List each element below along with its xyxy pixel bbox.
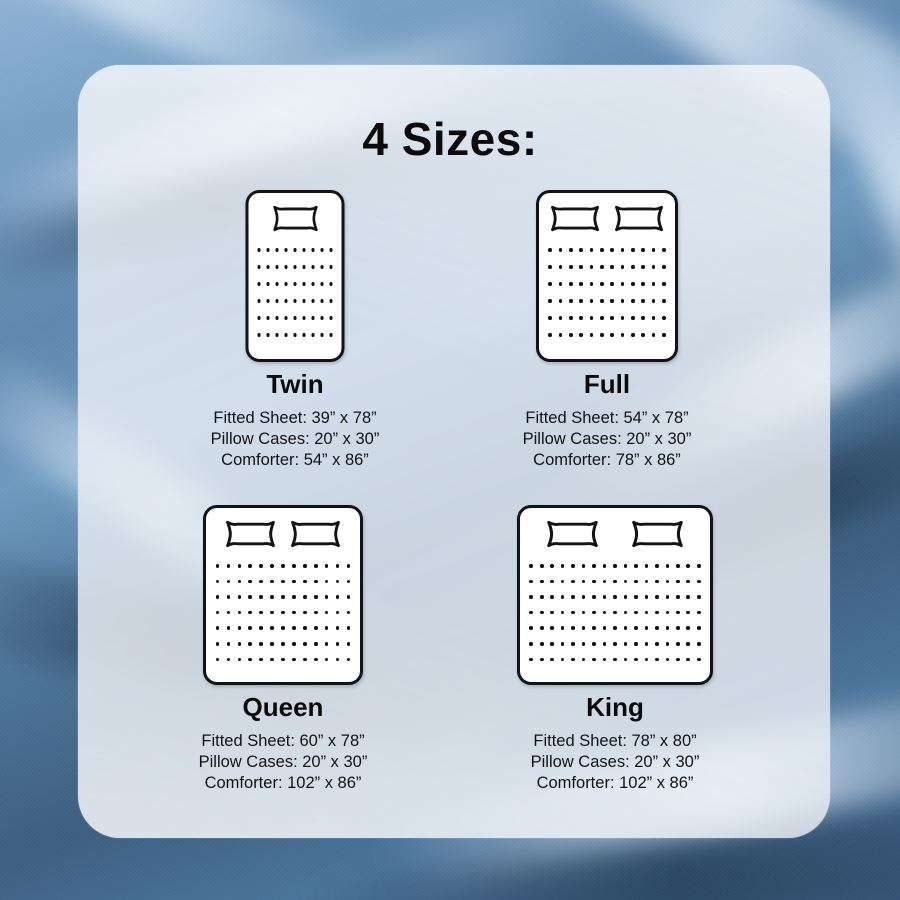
pillow-group: [249, 202, 342, 235]
mattress-dot: [579, 316, 583, 320]
mattress-dot: [561, 658, 565, 662]
mattress-dot: [624, 564, 628, 568]
dot-row: [520, 642, 710, 646]
spec-line: Comforter: 102” x 86”: [450, 773, 780, 794]
mattress-dot: [600, 282, 604, 286]
mattress-dot: [569, 316, 573, 320]
mattress-dot: [550, 580, 554, 584]
mattress-dot: [292, 658, 296, 662]
size-cell-full: FullFitted Sheet: 54” x 78”Pillow Cases:…: [442, 190, 772, 471]
mattress-dot: [325, 595, 329, 599]
mattress-dot: [561, 580, 565, 584]
mattress-dot: [686, 642, 690, 646]
mattress-dot: [603, 642, 607, 646]
mattress-dot: [257, 265, 261, 269]
dot-row: [520, 658, 710, 662]
mattress-dot: [582, 658, 586, 662]
mattress-dot: [582, 595, 586, 599]
mattress-dot: [248, 642, 252, 646]
size-cell-king: KingFitted Sheet: 78” x 80”Pillow Cases:…: [450, 505, 780, 794]
mattress-dot: [641, 299, 645, 303]
pillow-icon: [223, 517, 278, 551]
mattress-dot: [227, 595, 231, 599]
mattress-dot: [666, 595, 670, 599]
mattress-dot: [216, 595, 220, 599]
mattress-dot: [275, 333, 279, 337]
mattress-dot: [270, 611, 274, 615]
mattress-dot: [259, 658, 263, 662]
mattress-dot: [302, 248, 306, 252]
mattress-dot: [571, 626, 575, 630]
mattress-dot: [613, 580, 617, 584]
size-spec-list: Fitted Sheet: 78” x 80”Pillow Cases: 20”…: [450, 731, 780, 794]
mattress-dot: [592, 564, 596, 568]
dot-row: [206, 595, 360, 599]
mattress-dot: [613, 642, 617, 646]
mattress-dot: [238, 642, 242, 646]
mattress-dot: [540, 580, 544, 584]
mattress-dot: [697, 564, 701, 568]
mattress-dot: [634, 595, 638, 599]
mattress-dot: [529, 580, 533, 584]
dot-row: [520, 611, 710, 615]
mattress-dot: [311, 248, 315, 252]
mattress-dot: [216, 626, 220, 630]
mattress-dot: [571, 580, 575, 584]
size-spec-list: Fitted Sheet: 54” x 78”Pillow Cases: 20”…: [442, 408, 772, 471]
mattress-dot: [579, 282, 583, 286]
mattress-dot: [529, 642, 533, 646]
mattress-dot: [652, 333, 656, 337]
mattress-dot: [259, 580, 263, 584]
mattress-dot: [561, 642, 565, 646]
mattress-dot: [281, 642, 285, 646]
mattress-dot: [569, 333, 573, 337]
mattress-dot: [336, 642, 340, 646]
mattress-dot: [676, 642, 680, 646]
mattress-dot: [603, 658, 607, 662]
mattress-dot: [652, 282, 656, 286]
pillow-group: [520, 517, 710, 551]
mattress-dot: [655, 580, 659, 584]
mattress-dot: [281, 611, 285, 615]
mattress-dot: [548, 282, 552, 286]
mattress-dot: [266, 299, 270, 303]
mattress-dot: [293, 299, 297, 303]
mattress-dot: [281, 564, 285, 568]
mattress-dot: [641, 333, 645, 337]
spec-line: Fitted Sheet: 39” x 78”: [130, 408, 460, 429]
dot-row: [539, 299, 675, 303]
mattress-dot: [686, 626, 690, 630]
mattress-dot: [529, 595, 533, 599]
mattress-dot: [610, 265, 614, 269]
mattress-dot: [266, 316, 270, 320]
dot-row: [520, 564, 710, 568]
mattress-dot: [548, 248, 552, 252]
mattress-dot: [641, 265, 645, 269]
mattress-dot: [266, 265, 270, 269]
size-spec-list: Fitted Sheet: 60” x 78”Pillow Cases: 20”…: [118, 731, 448, 794]
pillow-icon: [548, 202, 602, 235]
mattress-dot: [686, 564, 690, 568]
mattress-dot: [550, 626, 554, 630]
mattress-dot: [292, 611, 296, 615]
mattress-dot: [540, 642, 544, 646]
mattress-dot: [662, 299, 666, 303]
pillow-group: [539, 202, 675, 235]
mattress-dot: [292, 642, 296, 646]
mattress-dot: [579, 299, 583, 303]
mattress-dot: [216, 611, 220, 615]
mattress-dot: [624, 595, 628, 599]
mattress-dot: [631, 316, 635, 320]
mattress-dot: [631, 333, 635, 337]
mattress-dot: [634, 642, 638, 646]
mattress-dot: [270, 626, 274, 630]
mattress-dot: [259, 595, 263, 599]
mattress-dot: [281, 658, 285, 662]
size-name-label: Full: [442, 369, 772, 400]
mattress-dot: [582, 611, 586, 615]
size-name-label: Queen: [118, 692, 448, 723]
dot-row: [520, 626, 710, 630]
mattress-dot: [303, 580, 307, 584]
mattress-dot: [550, 595, 554, 599]
mattress-dot: [571, 611, 575, 615]
mattress-dot: [227, 611, 231, 615]
size-cell-twin: TwinFitted Sheet: 39” x 78”Pillow Cases:…: [130, 190, 460, 471]
mattress-dot: [303, 611, 307, 615]
dot-row: [206, 642, 360, 646]
mattress-dot: [600, 316, 604, 320]
mattress-dot: [303, 595, 307, 599]
mattress-dot: [227, 626, 231, 630]
mattress-dot: [314, 595, 318, 599]
mattress-dot: [329, 299, 333, 303]
mattress-dot: [697, 611, 701, 615]
mattress-dot: [624, 611, 628, 615]
mattress-dot: [631, 282, 635, 286]
mattress-dot: [645, 642, 649, 646]
mattress-dot: [662, 333, 666, 337]
mattress-dot: [676, 580, 680, 584]
mattress-dot: [325, 580, 329, 584]
mattress-dot: [559, 299, 563, 303]
mattress-dot: [582, 642, 586, 646]
mattress-dot: [686, 595, 690, 599]
mattress-dot: [613, 611, 617, 615]
mattress-dot: [529, 611, 533, 615]
mattress-dot: [697, 580, 701, 584]
dot-row: [249, 282, 342, 286]
mattress-dot: [631, 299, 635, 303]
dot-row: [206, 626, 360, 630]
mattress-dot: [624, 658, 628, 662]
mattress-dot: [613, 595, 617, 599]
mattress-dot: [550, 564, 554, 568]
mattress-dot: [641, 316, 645, 320]
mattress-dot: [603, 611, 607, 615]
mattress-dot: [676, 564, 680, 568]
mattress-dot: [666, 611, 670, 615]
mattress-dot: [697, 658, 701, 662]
spec-line: Fitted Sheet: 60” x 78”: [118, 731, 448, 752]
mattress-dot: [303, 658, 307, 662]
mattress-dot: [314, 564, 318, 568]
mattress-dot: [257, 316, 261, 320]
mattress-dot: [302, 265, 306, 269]
mattress-dot: [266, 282, 270, 286]
mattress-dot: [652, 265, 656, 269]
mattress-dot: [259, 626, 263, 630]
mattress-dot: [314, 626, 318, 630]
mattress-dot: [329, 248, 333, 252]
dot-row: [249, 333, 342, 337]
mattress-dot: [676, 626, 680, 630]
mattress-dot: [590, 316, 594, 320]
mattress-dot: [292, 595, 296, 599]
mattress-dot: [613, 626, 617, 630]
mattress-dot: [540, 611, 544, 615]
pillow-icon: [629, 517, 686, 551]
mattress-dot: [540, 595, 544, 599]
mattress-dot: [676, 611, 680, 615]
mattress-dot: [666, 564, 670, 568]
mattress-dot: [621, 265, 625, 269]
mattress-dot: [655, 595, 659, 599]
mattress-dot: [600, 299, 604, 303]
mattress-dot: [248, 626, 252, 630]
mattress-dot: [613, 564, 617, 568]
mattress-dot: [347, 626, 351, 630]
dot-row: [539, 316, 675, 320]
spec-line: Fitted Sheet: 54” x 78”: [442, 408, 772, 429]
mattress-dot: [329, 316, 333, 320]
mattress-dot: [548, 265, 552, 269]
mattress-dot: [329, 265, 333, 269]
mattress-dot: [293, 333, 297, 337]
mattress-dot: [571, 642, 575, 646]
full-bed-icon: [442, 190, 772, 362]
mattress-dot: [641, 248, 645, 252]
mattress-dot: [266, 333, 270, 337]
mattress-dot: [621, 248, 625, 252]
mattress-dot: [275, 299, 279, 303]
mattress-dot: [569, 299, 573, 303]
mattress-dot: [238, 626, 242, 630]
mattress-dot: [216, 658, 220, 662]
mattress-dot: [590, 282, 594, 286]
mattress-dot: [227, 564, 231, 568]
mattress-dot: [624, 580, 628, 584]
mattress-dot: [666, 626, 670, 630]
mattress-dot: [248, 658, 252, 662]
mattress-dot: [311, 265, 315, 269]
dot-row: [539, 265, 675, 269]
mattress-dot: [257, 282, 261, 286]
mattress-dot: [592, 658, 596, 662]
mattress-dot: [655, 626, 659, 630]
mattress-dot: [662, 248, 666, 252]
spec-line: Pillow Cases: 20” x 30”: [450, 752, 780, 773]
mattress-dot: [645, 611, 649, 615]
mattress-dot: [641, 282, 645, 286]
spec-line: Pillow Cases: 20” x 30”: [442, 429, 772, 450]
mattress-dot: [624, 642, 628, 646]
mattress-dot: [529, 626, 533, 630]
mattress-dot: [284, 299, 288, 303]
mattress-dot: [314, 611, 318, 615]
mattress-dot: [579, 248, 583, 252]
mattress-dot: [590, 299, 594, 303]
mattress-dot: [662, 265, 666, 269]
mattress-dot: [259, 642, 263, 646]
mattress-dot: [347, 611, 351, 615]
page-title: 4 Sizes:: [0, 112, 900, 166]
mattress-dot: [320, 248, 324, 252]
mattress-dot: [325, 564, 329, 568]
mattress-dot: [600, 248, 604, 252]
mattress-dot: [603, 564, 607, 568]
mattress-dot: [676, 595, 680, 599]
mattress-dot: [325, 611, 329, 615]
mattress-dot: [559, 282, 563, 286]
size-name-label: King: [450, 692, 780, 723]
mattress-dot: [590, 248, 594, 252]
mattress-dot: [227, 642, 231, 646]
mattress-dot: [336, 611, 340, 615]
mattress-dot: [569, 282, 573, 286]
spec-line: Comforter: 78” x 86”: [442, 450, 772, 471]
mattress-dot: [610, 333, 614, 337]
mattress-dot-grid: [249, 248, 342, 351]
mattress-dot: [686, 611, 690, 615]
mattress-dot: [270, 580, 274, 584]
mattress-dot: [569, 265, 573, 269]
mattress-dot: [302, 316, 306, 320]
mattress-dot: [529, 564, 533, 568]
mattress-dot: [645, 626, 649, 630]
bed-outline: [203, 505, 363, 685]
twin-bed-icon: [130, 190, 460, 362]
mattress-dot: [592, 626, 596, 630]
mattress-dot: [320, 299, 324, 303]
mattress-dot: [592, 580, 596, 584]
size-cell-queen: QueenFitted Sheet: 60” x 78”Pillow Cases…: [118, 505, 448, 794]
mattress-dot: [292, 564, 296, 568]
mattress-dot: [582, 626, 586, 630]
mattress-dot: [621, 299, 625, 303]
spec-line: Fitted Sheet: 78” x 80”: [450, 731, 780, 752]
mattress-dot: [548, 316, 552, 320]
mattress-dot: [347, 658, 351, 662]
mattress-dot: [666, 642, 670, 646]
mattress-dot: [645, 595, 649, 599]
mattress-dot: [540, 564, 544, 568]
mattress-dot: [550, 611, 554, 615]
dot-row: [539, 248, 675, 252]
mattress-dot: [347, 564, 351, 568]
mattress-dot: [621, 333, 625, 337]
mattress-dot: [325, 658, 329, 662]
mattress-dot: [610, 299, 614, 303]
mattress-dot: [600, 333, 604, 337]
dot-row: [539, 282, 675, 286]
dot-row: [249, 265, 342, 269]
mattress-dot: [336, 580, 340, 584]
mattress-dot: [216, 564, 220, 568]
mattress-dot: [571, 658, 575, 662]
mattress-dot: [293, 316, 297, 320]
mattress-dot: [281, 595, 285, 599]
mattress-dot: [284, 316, 288, 320]
mattress-dot: [559, 265, 563, 269]
mattress-dot: [336, 626, 340, 630]
mattress-dot: [571, 564, 575, 568]
mattress-dot: [686, 580, 690, 584]
mattress-dot: [634, 626, 638, 630]
mattress-dot: [266, 248, 270, 252]
bed-outline: [517, 505, 713, 685]
mattress-dot: [293, 248, 297, 252]
dot-row: [520, 595, 710, 599]
mattress-dot: [284, 333, 288, 337]
mattress-dot: [347, 595, 351, 599]
size-spec-list: Fitted Sheet: 39” x 78”Pillow Cases: 20”…: [130, 408, 460, 471]
mattress-dot: [697, 626, 701, 630]
mattress-dot: [666, 658, 670, 662]
mattress-dot: [281, 626, 285, 630]
queen-bed-icon: [118, 505, 448, 685]
mattress-dot: [336, 595, 340, 599]
mattress-dot: [303, 626, 307, 630]
mattress-dot: [686, 658, 690, 662]
dot-row: [249, 316, 342, 320]
mattress-dot: [655, 564, 659, 568]
mattress-dot: [302, 299, 306, 303]
mattress-dot: [655, 642, 659, 646]
mattress-dot: [320, 316, 324, 320]
mattress-dot: [227, 658, 231, 662]
mattress-dot: [311, 282, 315, 286]
mattress-dot: [592, 642, 596, 646]
mattress-dot: [336, 658, 340, 662]
mattress-dot: [311, 316, 315, 320]
mattress-dot: [275, 282, 279, 286]
mattress-dot: [347, 580, 351, 584]
king-bed-icon: [450, 505, 780, 685]
dot-row: [520, 580, 710, 584]
mattress-dot: [548, 333, 552, 337]
mattress-dot: [238, 611, 242, 615]
mattress-dot: [275, 316, 279, 320]
mattress-dot: [270, 595, 274, 599]
mattress-dot: [275, 248, 279, 252]
mattress-dot: [238, 580, 242, 584]
mattress-dot: [275, 265, 279, 269]
mattress-dot: [610, 282, 614, 286]
mattress-dot: [652, 316, 656, 320]
mattress-dot: [634, 580, 638, 584]
mattress-dot: [259, 564, 263, 568]
mattress-dot: [325, 626, 329, 630]
mattress-dot: [613, 658, 617, 662]
mattress-dot: [624, 626, 628, 630]
mattress-dot: [320, 282, 324, 286]
mattress-dot: [652, 299, 656, 303]
mattress-dot: [666, 580, 670, 584]
